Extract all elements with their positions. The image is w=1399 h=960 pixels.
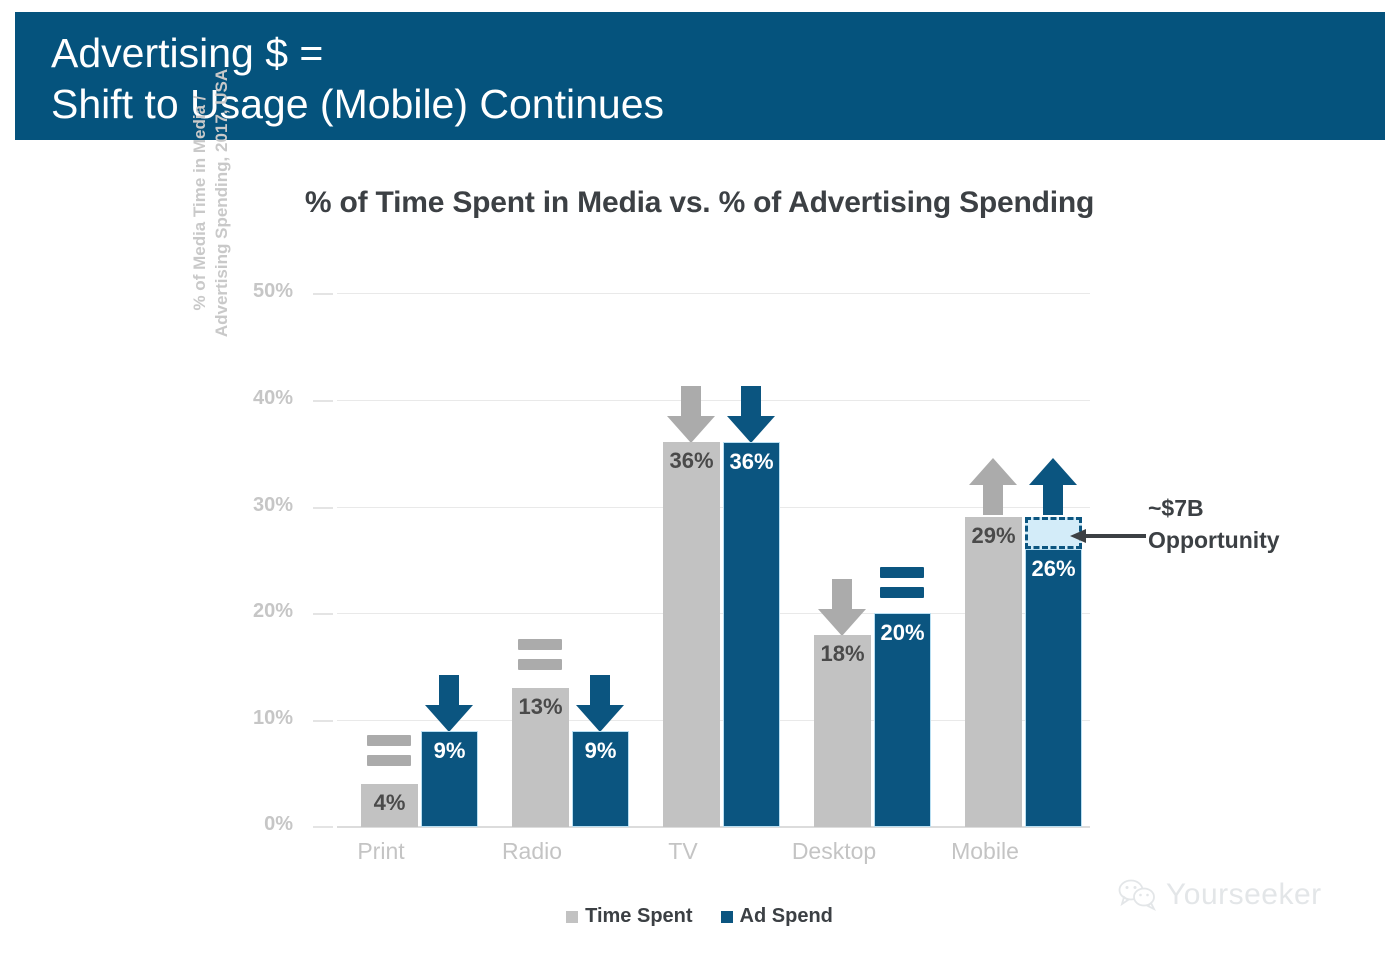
- bar-ad-spend-mobile[interactable]: 26%: [1025, 549, 1082, 827]
- bar-time-spent-radio[interactable]: 13%: [512, 688, 569, 827]
- ytick-label-30: 30%: [229, 494, 293, 517]
- bar-group-print: 4% 9%: [361, 293, 481, 827]
- legend-item-time-spent[interactable]: Time Spent: [566, 905, 692, 928]
- bar-value-label: 9%: [422, 738, 477, 764]
- trend-up-arrow-icon: [1027, 457, 1079, 515]
- bar-time-spent-mobile[interactable]: 29%: [965, 517, 1022, 827]
- trend-equals-icon: [514, 639, 566, 681]
- bar-ad-spend-radio[interactable]: 9%: [572, 731, 629, 827]
- bar-value-label: 26%: [1026, 556, 1081, 582]
- watermark: Yourseeker: [1118, 878, 1322, 912]
- legend-label: Ad Spend: [740, 905, 833, 928]
- bar-value-label: 9%: [573, 738, 628, 764]
- bar-ad-spend-desktop[interactable]: 20%: [874, 613, 931, 827]
- bar-value-label: 18%: [814, 641, 871, 667]
- trend-equals-icon: [876, 567, 928, 609]
- legend-swatch-icon: [566, 911, 578, 923]
- bar-time-spent-desktop[interactable]: 18%: [814, 635, 871, 827]
- wechat-icon: [1118, 878, 1158, 912]
- bar-group-radio: 13% 9%: [512, 293, 632, 827]
- bar-value-label: 20%: [875, 620, 930, 646]
- bar-ad-spend-print[interactable]: 9%: [421, 731, 478, 827]
- ytick-dash-30: [313, 507, 333, 509]
- ytick-label-40: 40%: [229, 387, 293, 410]
- bar-value-label: 36%: [724, 449, 779, 475]
- trend-equals-icon: [363, 735, 415, 777]
- bar-value-label: 36%: [663, 448, 720, 474]
- ytick-label-10: 10%: [229, 707, 293, 730]
- trend-down-arrow-icon: [574, 675, 626, 733]
- bar-ad-spend-tv[interactable]: 36%: [723, 442, 780, 827]
- opportunity-annotation-label: ~$7B Opportunity: [1148, 492, 1348, 556]
- bar-group-desktop: 18% 20%: [814, 293, 934, 827]
- trend-down-arrow-icon: [665, 386, 717, 444]
- opportunity-arrow-icon: [1070, 528, 1146, 544]
- ytick-dash-40: [313, 400, 333, 402]
- y-axis-title: % of Media Time in Media / Advertising S…: [189, 0, 233, 413]
- ytick-label-0: 0%: [229, 813, 293, 836]
- legend-label: Time Spent: [585, 905, 692, 928]
- chart-plot-area: % of Media Time in Media / Advertising S…: [337, 293, 1090, 827]
- bar-value-label: 4%: [361, 790, 418, 816]
- trend-down-arrow-icon: [816, 579, 868, 637]
- ytick-label-50: 50%: [229, 280, 293, 303]
- trend-down-arrow-icon: [725, 386, 777, 444]
- bar-time-spent-tv[interactable]: 36%: [663, 442, 720, 827]
- trend-down-arrow-icon: [423, 675, 475, 733]
- bar-time-spent-print[interactable]: 4%: [361, 784, 418, 827]
- bar-value-label: 29%: [965, 523, 1022, 549]
- trend-up-arrow-icon: [967, 457, 1019, 515]
- watermark-text: Yourseeker: [1166, 878, 1322, 912]
- legend-swatch-icon: [721, 911, 733, 923]
- bar-group-mobile: 29% 26%: [965, 293, 1085, 827]
- page-title: Advertising $ = Shift to Usage (Mobile) …: [51, 28, 664, 130]
- ytick-dash-0: [313, 826, 333, 828]
- ytick-dash-20: [313, 613, 333, 615]
- legend-item-ad-spend[interactable]: Ad Spend: [721, 905, 833, 928]
- bar-group-tv: 36% 36%: [663, 293, 783, 827]
- bar-value-label: 13%: [512, 694, 569, 720]
- ytick-label-20: 20%: [229, 600, 293, 623]
- xaxis-label-mobile: Mobile: [895, 838, 1075, 865]
- ytick-dash-50: [313, 293, 333, 295]
- ytick-dash-10: [313, 720, 333, 722]
